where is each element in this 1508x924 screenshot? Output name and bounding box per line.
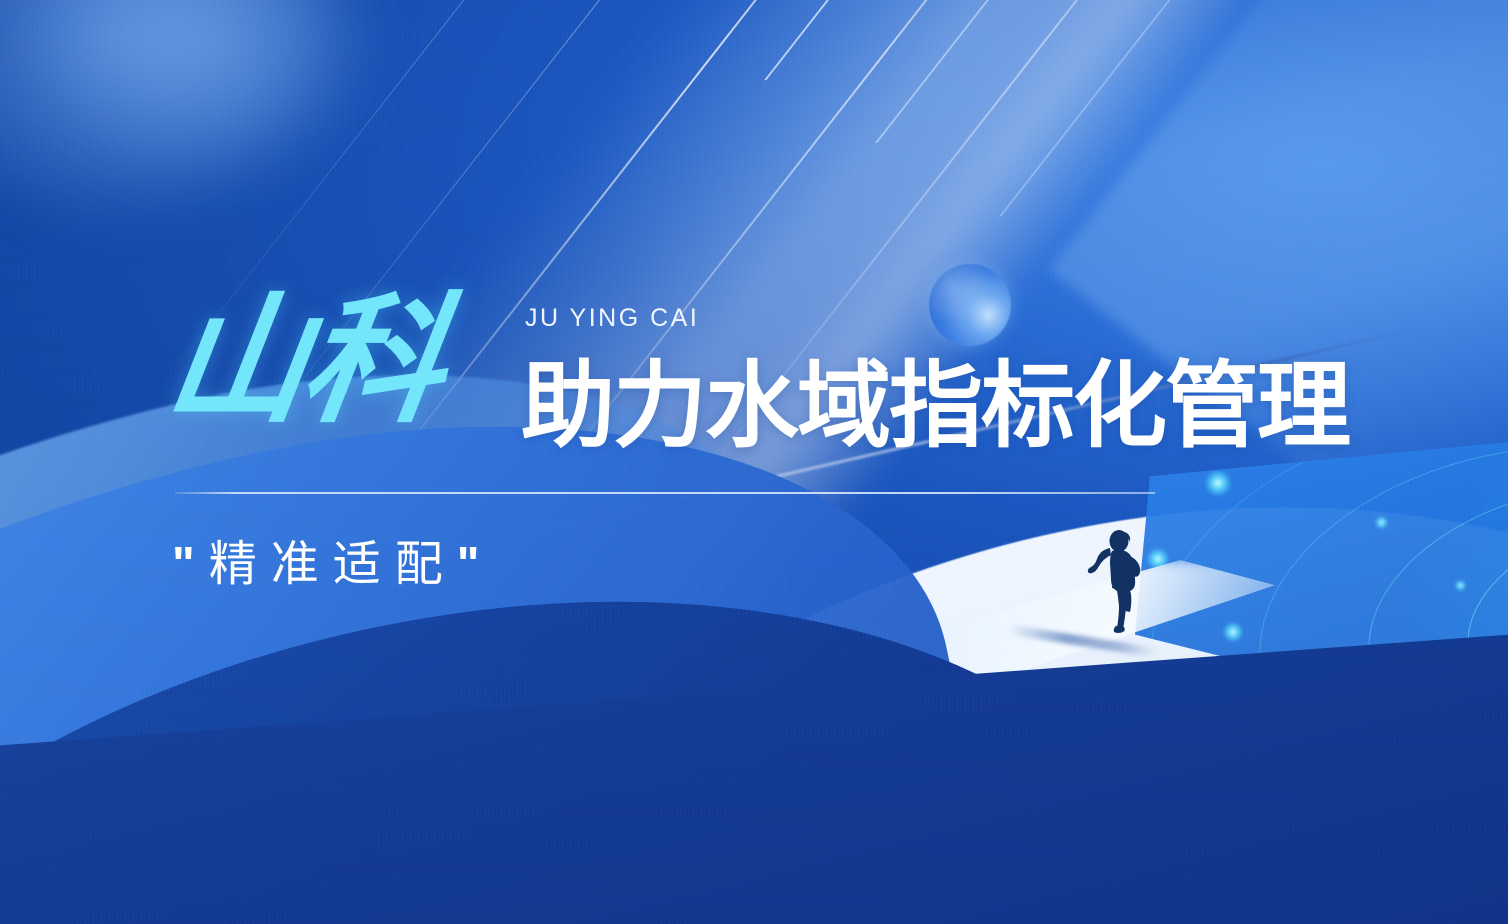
subtitle-open-quote: " xyxy=(172,538,209,591)
banner-stage: 山科 JU YING CAI 助力水域指标化管理 "精准适配" xyxy=(0,0,1508,924)
divider-line xyxy=(175,492,1155,494)
brand-pinyin: JU YING CAI xyxy=(525,304,699,333)
banner-content: 山科 JU YING CAI 助力水域指标化管理 "精准适配" xyxy=(0,0,1508,924)
subtitle-label: 精准适配 xyxy=(209,536,457,592)
brand-logo-cn: 山科 xyxy=(158,292,450,432)
subtitle-text: "精准适配" xyxy=(172,540,494,589)
subtitle-close-quote: " xyxy=(457,538,494,591)
headline-text: 助力水域指标化管理 xyxy=(521,360,1349,454)
